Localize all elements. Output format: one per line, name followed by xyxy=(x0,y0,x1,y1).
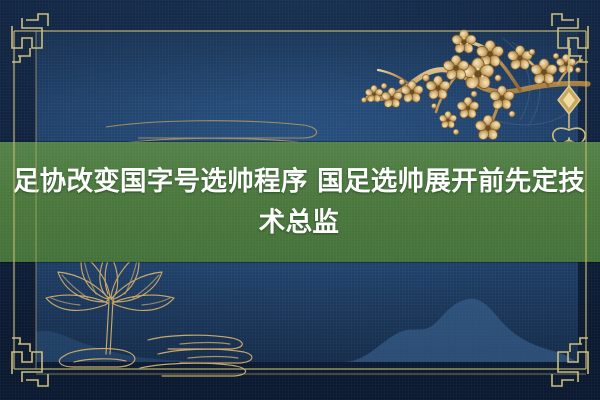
poster-image: 足协改变国字号选帅程序 国足选帅展开前先定技 术总监 xyxy=(0,0,600,400)
title-band: 足协改变国字号选帅程序 国足选帅展开前先定技 术总监 xyxy=(0,142,600,262)
page-title-line-2: 术总监 xyxy=(259,202,339,243)
page-title-line-1: 足协改变国字号选帅程序 国足选帅展开前先定技 xyxy=(13,161,585,202)
title-text-block: 足协改变国字号选帅程序 国足选帅展开前先定技 术总监 xyxy=(0,142,600,262)
